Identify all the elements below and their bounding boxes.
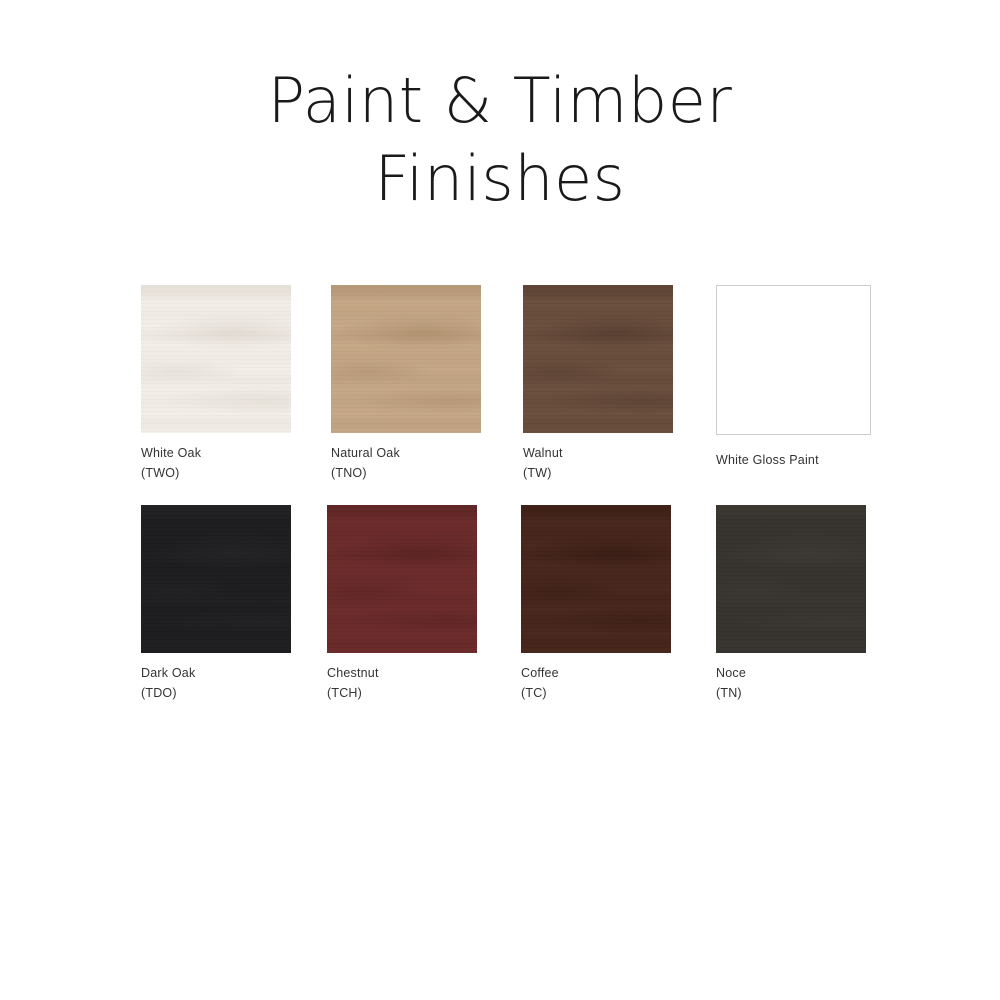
swatch-name: Walnut xyxy=(523,446,563,460)
swatch-caption: White Oak (TWO) xyxy=(141,443,291,483)
wood-grain-band xyxy=(327,505,477,653)
swatch-caption: Noce (TN) xyxy=(716,663,866,703)
wood-grain-fine xyxy=(141,285,291,433)
swatch-color-white-oak[interactable] xyxy=(141,285,291,433)
page-title-line-1: Paint & Timber xyxy=(0,62,1000,140)
swatch-caption: Natural Oak (TNO) xyxy=(331,443,481,483)
wood-grain-arc xyxy=(716,505,866,653)
swatch-color-natural-oak[interactable] xyxy=(331,285,481,433)
swatch-name: Dark Oak xyxy=(141,666,195,680)
swatch-code: (TWO) xyxy=(141,463,291,483)
wood-grain-fine xyxy=(141,505,291,653)
swatch-code: (TDO) xyxy=(141,683,291,703)
wood-grain-fine xyxy=(331,285,481,433)
swatch-color-coffee[interactable] xyxy=(521,505,671,653)
swatch-item-chestnut[interactable]: Chestnut (TCH) xyxy=(327,505,477,703)
swatch-color-chestnut[interactable] xyxy=(327,505,477,653)
swatch-code: (TN) xyxy=(716,683,866,703)
swatch-caption: Walnut (TW) xyxy=(523,443,673,483)
swatch-name: Chestnut xyxy=(327,666,379,680)
swatch-item-noce[interactable]: Noce (TN) xyxy=(716,505,866,703)
swatch-code: (TCH) xyxy=(327,683,477,703)
page-title-line-2: Finishes xyxy=(0,140,1000,218)
swatch-color-dark-oak[interactable] xyxy=(141,505,291,653)
swatch-caption: Coffee (TC) xyxy=(521,663,671,703)
swatch-color-walnut[interactable] xyxy=(523,285,673,433)
swatch-name: White Gloss Paint xyxy=(716,453,819,467)
swatch-name: Natural Oak xyxy=(331,446,400,460)
wood-grain-fine xyxy=(521,505,671,653)
swatch-row-2: Dark Oak (TDO) Chestnut (TCH) Coffee xyxy=(141,505,881,725)
wood-grain-arc xyxy=(523,285,673,433)
swatch-item-white-gloss-paint[interactable]: White Gloss Paint xyxy=(716,285,866,470)
wood-grain-band xyxy=(521,505,671,653)
swatch-caption: White Gloss Paint xyxy=(716,450,866,470)
wood-grain-band xyxy=(716,505,866,653)
swatch-caption: Dark Oak (TDO) xyxy=(141,663,291,703)
swatch-item-walnut[interactable]: Walnut (TW) xyxy=(523,285,673,483)
swatch-code: (TNO) xyxy=(331,463,481,483)
swatch-item-white-oak[interactable]: White Oak (TWO) xyxy=(141,285,291,483)
wood-grain-band xyxy=(141,505,291,653)
swatch-caption: Chestnut (TCH) xyxy=(327,663,477,703)
finish-swatch-grid: White Oak (TWO) Natural Oak (TNO) Wa xyxy=(141,285,881,725)
page-title: Paint & Timber Finishes xyxy=(0,62,1000,218)
wood-grain-arc xyxy=(327,505,477,653)
swatch-row-1: White Oak (TWO) Natural Oak (TNO) Wa xyxy=(141,285,881,505)
wood-grain-band xyxy=(523,285,673,433)
swatch-color-white-gloss-paint[interactable] xyxy=(716,285,871,435)
swatch-name: Coffee xyxy=(521,666,559,680)
wood-grain-fine xyxy=(523,285,673,433)
swatch-code: (TC) xyxy=(521,683,671,703)
swatch-name: Noce xyxy=(716,666,746,680)
wood-grain-band xyxy=(141,285,291,433)
swatch-code: (TW) xyxy=(523,463,673,483)
swatch-name: White Oak xyxy=(141,446,201,460)
wood-grain-arc xyxy=(521,505,671,653)
wood-grain-arc xyxy=(141,285,291,433)
wood-grain-fine xyxy=(716,505,866,653)
wood-grain-band xyxy=(331,285,481,433)
swatch-color-noce[interactable] xyxy=(716,505,866,653)
wood-grain-arc xyxy=(141,505,291,653)
wood-grain-arc xyxy=(331,285,481,433)
swatch-item-dark-oak[interactable]: Dark Oak (TDO) xyxy=(141,505,291,703)
swatch-item-coffee[interactable]: Coffee (TC) xyxy=(521,505,671,703)
swatch-item-natural-oak[interactable]: Natural Oak (TNO) xyxy=(331,285,481,483)
wood-grain-fine xyxy=(327,505,477,653)
